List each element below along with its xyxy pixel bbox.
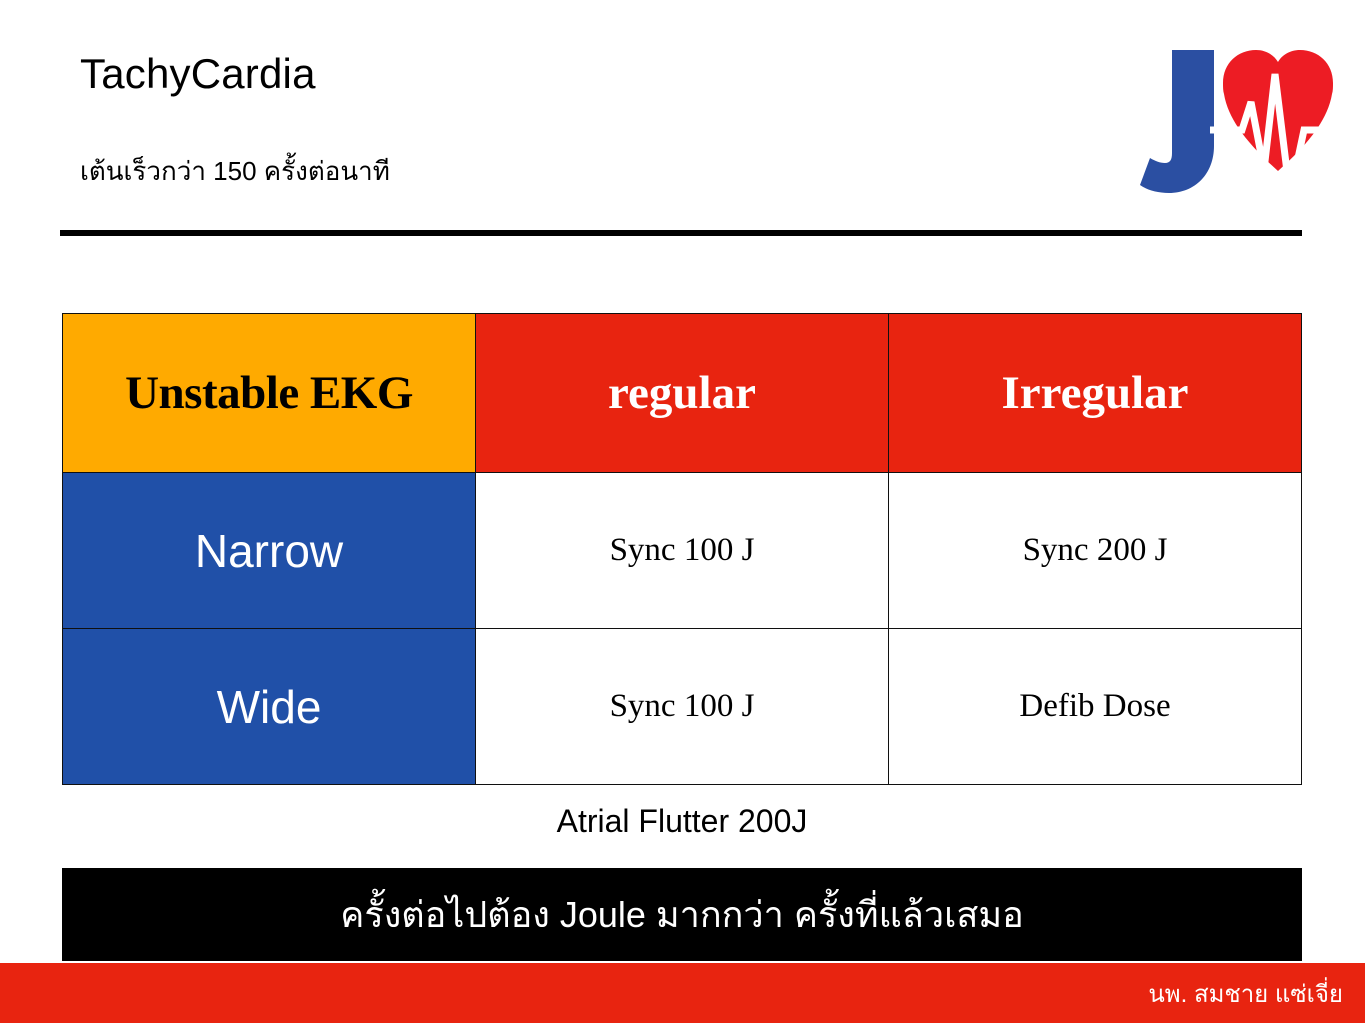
table-header-regular: regular (476, 314, 889, 473)
row-label-narrow: Narrow (63, 473, 476, 629)
atrial-flutter-note: Atrial Flutter 200J (62, 803, 1302, 840)
header-divider-rule (60, 230, 1302, 236)
table-header-row: Unstable EKG regular Irregular (63, 314, 1302, 473)
jm-heart-ecg-logo-icon (1140, 32, 1340, 212)
slide-header: TachyCardia เต้นเร็วกว่า 150 ครั้งต่อนาท… (0, 0, 1365, 240)
joule-escalation-banner: ครั้งต่อไปต้อง Joule มากกว่า ครั้งที่แล้… (62, 868, 1302, 961)
page-title: TachyCardia (80, 52, 316, 96)
footer-bar: นพ. สมชาย แซ่เจี่ย (0, 963, 1365, 1023)
page-subtitle: เต้นเร็วกว่า 150 ครั้งต่อนาที (80, 157, 390, 187)
table-header-irregular: Irregular (889, 314, 1302, 473)
joule-escalation-banner-text: ครั้งต่อไปต้อง Joule มากกว่า ครั้งที่แล้… (340, 895, 1023, 935)
footer-author-credit: นพ. สมชาย แซ่เจี่ย (1148, 974, 1365, 1013)
cell-narrow-regular: Sync 100 J (476, 473, 889, 629)
cell-wide-regular: Sync 100 J (476, 629, 889, 785)
table-row: Wide Sync 100 J Defib Dose (63, 629, 1302, 785)
tachycardia-shock-dose-table: Unstable EKG regular Irregular Narrow Sy… (62, 313, 1302, 785)
cell-narrow-irregular: Sync 200 J (889, 473, 1302, 629)
table-header-unstable-ekg: Unstable EKG (63, 314, 476, 473)
table-row: Narrow Sync 100 J Sync 200 J (63, 473, 1302, 629)
row-label-wide: Wide (63, 629, 476, 785)
cell-wide-irregular: Defib Dose (889, 629, 1302, 785)
